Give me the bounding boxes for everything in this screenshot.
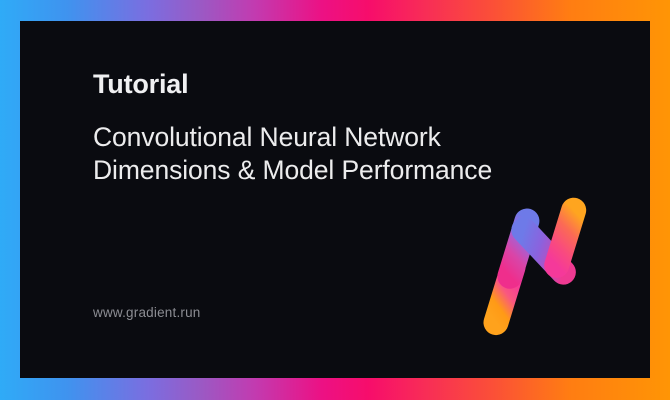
headline-line-1: Convolutional Neural Network [93,121,492,154]
eyebrow-label: Tutorial [93,71,492,98]
text-block: Tutorial Convolutional Neural Network Di… [93,71,492,187]
site-url-label: www.gradient.run [93,305,201,320]
logo-stroke-4 [545,210,585,265]
card-panel: Tutorial Convolutional Neural Network Di… [20,21,650,378]
gradient-logo-icon [448,189,618,359]
headline-line-2: Dimensions & Model Performance [93,154,492,187]
page-title: Convolutional Neural Network Dimensions … [93,121,492,187]
gradient-logo-svg [448,189,618,359]
gradient-border-frame: Tutorial Convolutional Neural Network Di… [0,0,670,400]
